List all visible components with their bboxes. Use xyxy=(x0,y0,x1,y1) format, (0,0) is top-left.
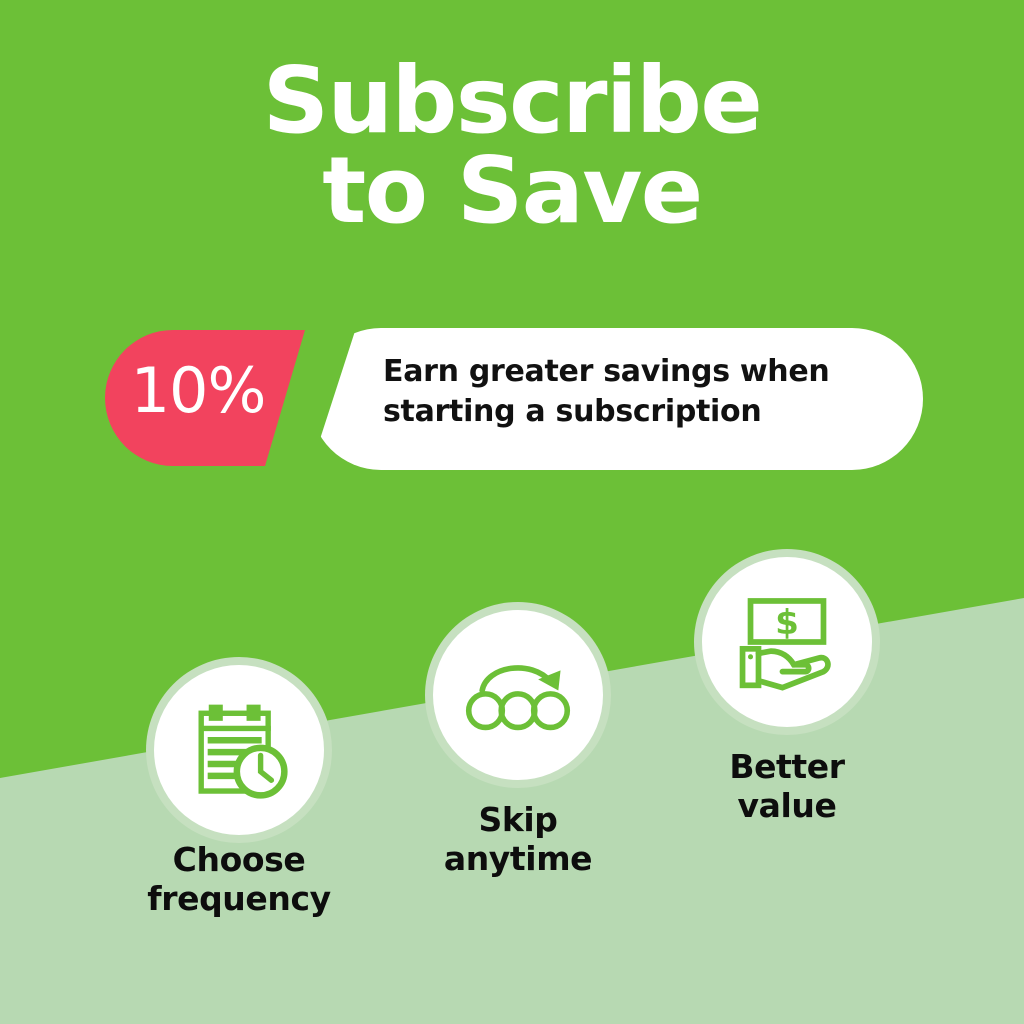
feature-label: Choose frequency xyxy=(79,841,399,919)
page-title: Subscribe to Save xyxy=(0,56,1024,236)
poster-canvas: Subscribe to Save Earn greater savings w… xyxy=(0,0,1024,1024)
skip-arrow-circles-icon xyxy=(462,639,574,751)
promo-banner: Earn greater savings when starting a sub… xyxy=(105,328,923,470)
clipboard-clock-icon xyxy=(185,696,293,804)
feature-label: Better value xyxy=(627,748,947,826)
promo-discount-value: 10% xyxy=(105,360,291,422)
feature-icon-circle xyxy=(154,665,324,835)
hand-holding-money-icon: $ xyxy=(730,585,844,699)
feature-icon-circle: $ xyxy=(702,557,872,727)
promo-message-text: Earn greater savings when starting a sub… xyxy=(383,352,903,432)
feature-icon-circle xyxy=(433,610,603,780)
svg-text:$: $ xyxy=(775,603,799,643)
